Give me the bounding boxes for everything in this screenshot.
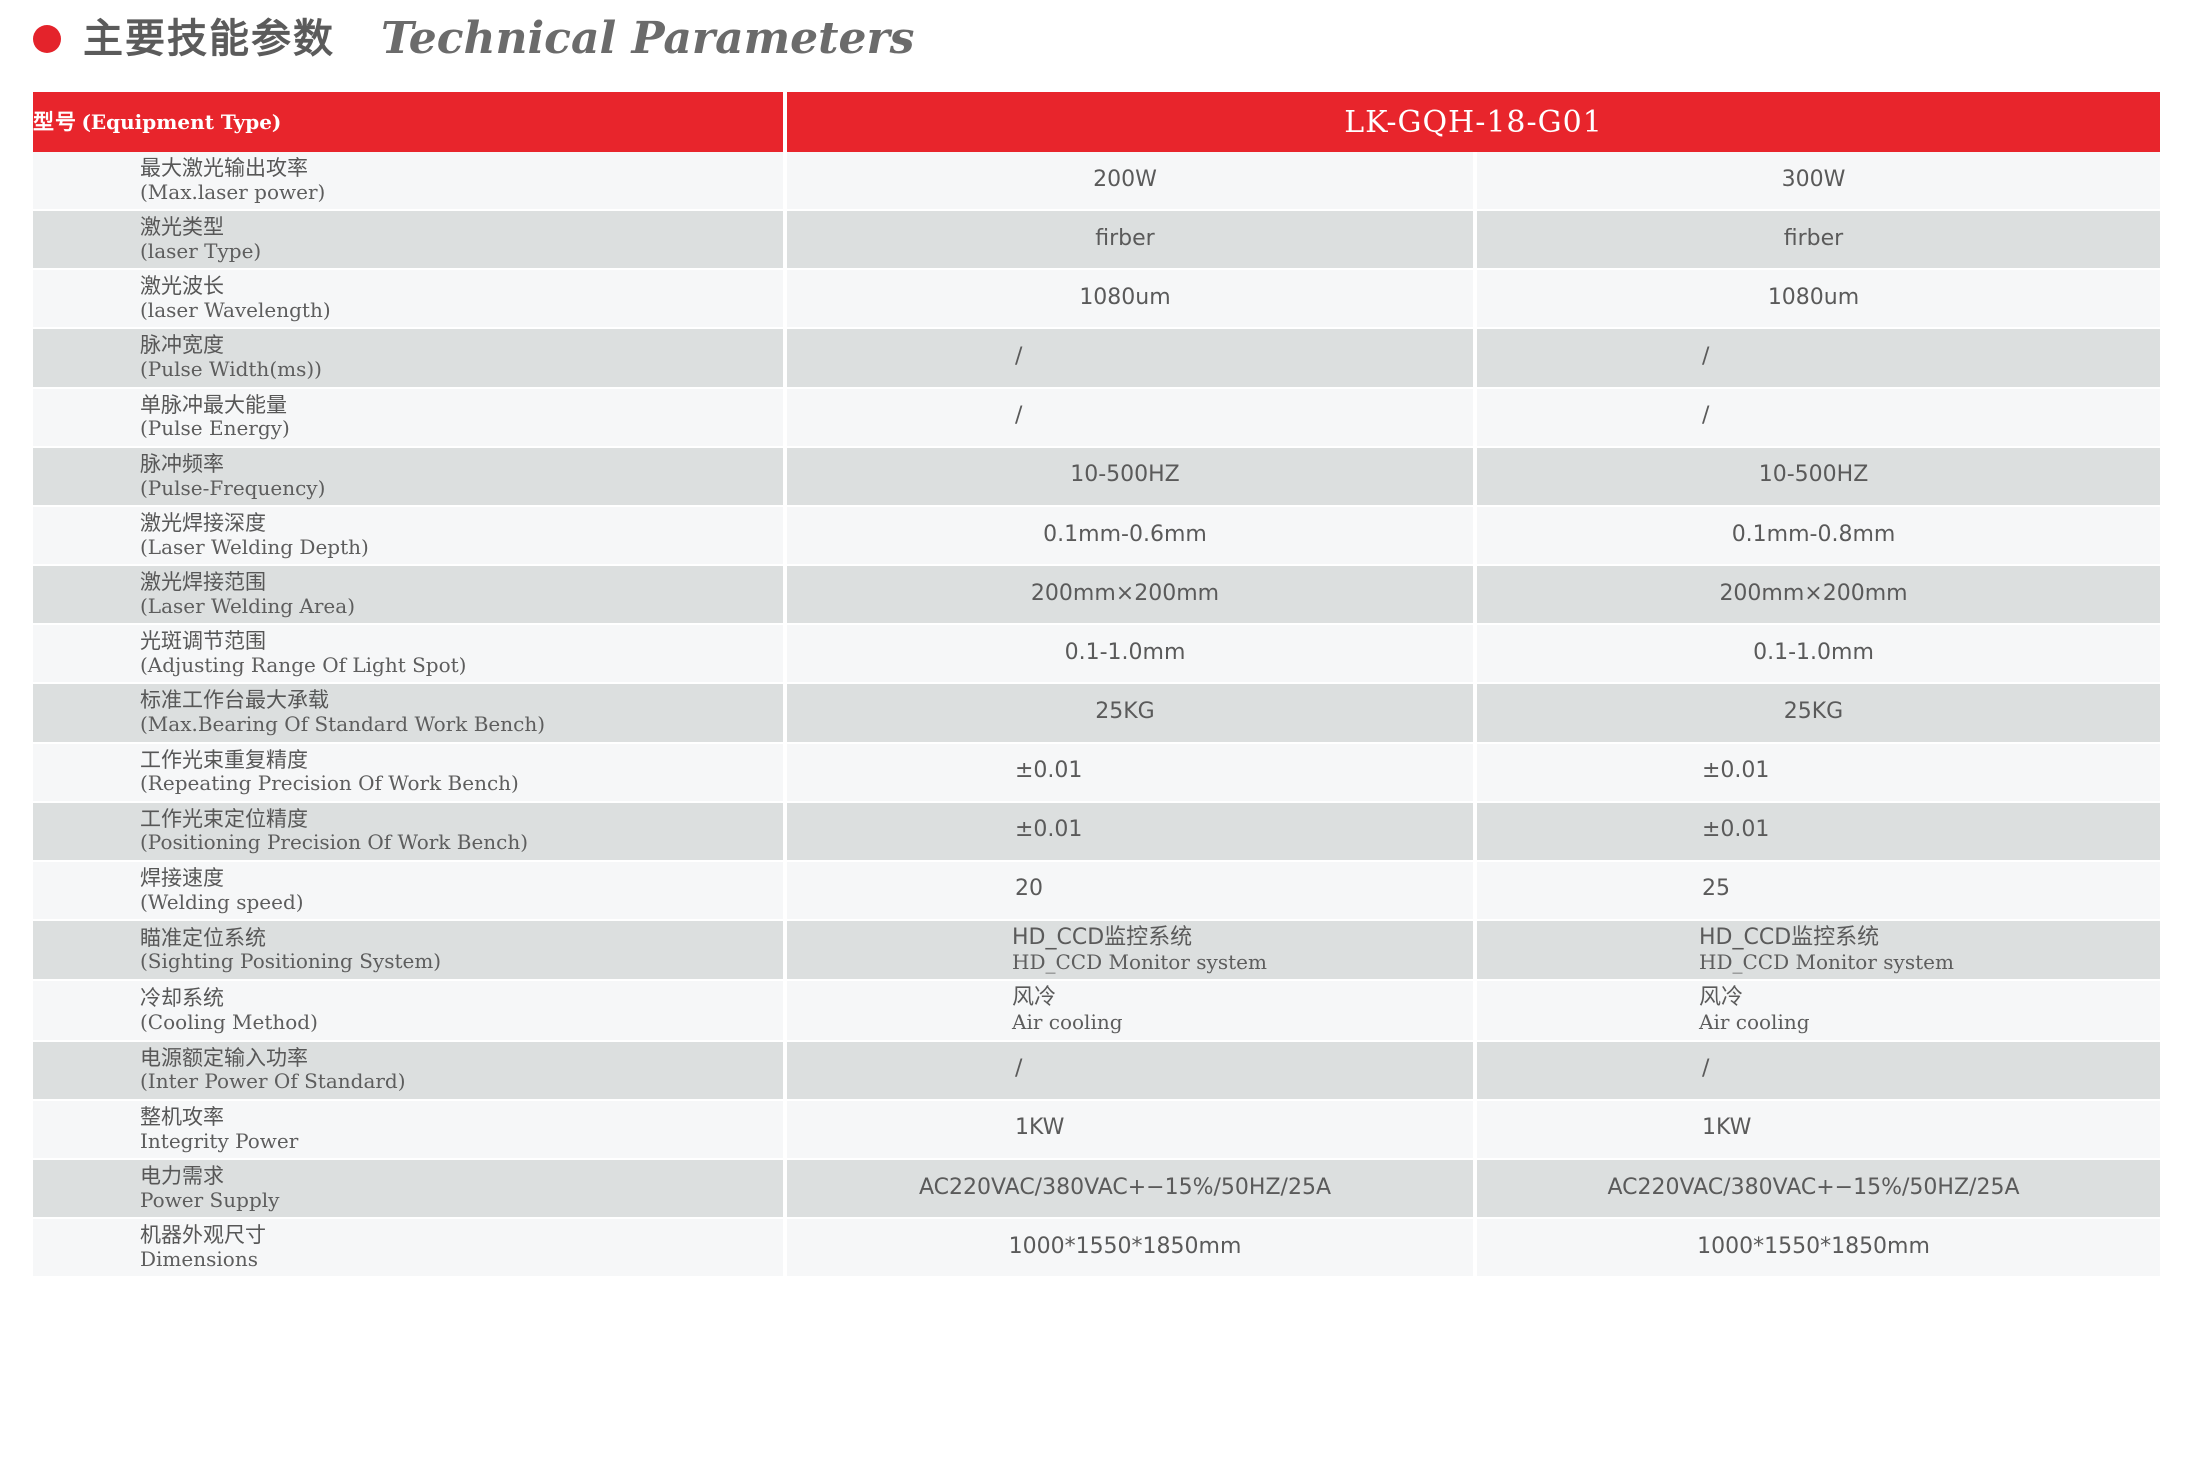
- parameter-label-en: Power Supply: [140, 1189, 773, 1211]
- parameter-value-cell: 1KW: [785, 1100, 1475, 1159]
- parameter-label-cn: 激光波长: [140, 274, 773, 299]
- parameter-value-cell: /: [1475, 388, 2160, 447]
- parameter-label-en: (Pulse-Frequency): [140, 477, 773, 499]
- parameter-label-cell: 单脉冲最大能量(Pulse Energy): [33, 388, 785, 447]
- table-row: 激光类型(laser Type)firberfirber: [33, 210, 2160, 269]
- parameter-value-primary: HD_CCD监控系统: [1012, 925, 1463, 951]
- parameter-value-cell: 0.1-1.0mm: [785, 624, 1475, 683]
- parameter-value-primary: /: [1702, 1056, 2150, 1082]
- parameter-value-primary: 风冷: [1699, 985, 2150, 1011]
- parameter-value-secondary: Air cooling: [1012, 1011, 1463, 1033]
- page-title-english: Technical Parameters: [381, 17, 914, 61]
- parameter-value-primary: 1000*1550*1850mm: [1477, 1234, 2150, 1260]
- parameter-label-cell: 工作光束重复精度(Repeating Precision Of Work Ben…: [33, 743, 785, 802]
- parameter-value-cell: 1080um: [1475, 269, 2160, 328]
- parameter-label-cell: 最大激光输出攻率(Max.laser power): [33, 152, 785, 210]
- parameter-label-cn: 最大激光输出攻率: [140, 156, 773, 181]
- parameter-value-cell: firber: [1475, 210, 2160, 269]
- parameter-label-cell: 冷却系统(Cooling Method): [33, 980, 785, 1040]
- parameter-value-secondary: HD_CCD Monitor system: [1012, 951, 1463, 973]
- parameter-value-primary: 25: [1702, 876, 2150, 902]
- parameter-value-cell: 风冷Air cooling: [785, 980, 1475, 1040]
- parameter-label-en: (Pulse Width(ms)): [140, 358, 773, 380]
- parameter-value-primary: 300W: [1477, 167, 2150, 193]
- parameter-label-en: (laser Wavelength): [140, 299, 773, 321]
- page-title-chinese: 主要技能参数: [83, 19, 335, 59]
- parameter-label-en: (Welding speed): [140, 891, 773, 913]
- parameter-label-cn: 焊接速度: [140, 866, 773, 891]
- parameter-value-cell: 10-500HZ: [785, 447, 1475, 506]
- parameter-label-cell: 电力需求Power Supply: [33, 1159, 785, 1218]
- table-body: 最大激光输出攻率(Max.laser power)200W300W激光类型(la…: [33, 152, 2160, 1277]
- table-row: 最大激光输出攻率(Max.laser power)200W300W: [33, 152, 2160, 210]
- parameter-value-primary: 1080um: [787, 285, 1463, 311]
- parameter-value-primary: /: [1015, 1056, 1463, 1082]
- parameter-value-primary: AC220VAC/380VAC+−15%/50HZ/25A: [1477, 1175, 2150, 1201]
- table-row: 焊接速度(Welding speed)2025: [33, 861, 2160, 920]
- parameter-value-cell: 25KG: [1475, 683, 2160, 742]
- parameters-table: 型号 (Equipment Type) LK-GQH-18-G01 最大激光输出…: [33, 92, 2160, 1278]
- parameter-value-cell: AC220VAC/380VAC+−15%/50HZ/25A: [785, 1159, 1475, 1218]
- parameter-label-cell: 工作光束定位精度(Positioning Precision Of Work B…: [33, 802, 785, 861]
- table-row: 电源额定输入功率(Inter Power Of Standard)//: [33, 1041, 2160, 1100]
- parameter-label-cn: 工作光束定位精度: [140, 807, 773, 832]
- header-equipment-type-en: (Equipment Type): [81, 110, 281, 134]
- parameter-label-en: (Repeating Precision Of Work Bench): [140, 772, 773, 794]
- parameter-label-cn: 单脉冲最大能量: [140, 393, 773, 418]
- parameter-value-primary: 25KG: [1477, 699, 2150, 725]
- parameter-label-cn: 瞄准定位系统: [140, 926, 773, 951]
- parameter-value-cell: 200mm×200mm: [1475, 565, 2160, 624]
- parameter-label-cn: 脉冲频率: [140, 452, 773, 477]
- table-row: 激光焊接范围(Laser Welding Area)200mm×200mm200…: [33, 565, 2160, 624]
- parameter-value-cell: /: [785, 1041, 1475, 1100]
- parameter-label-cn: 电源额定输入功率: [140, 1046, 773, 1071]
- parameter-value-cell: 300W: [1475, 152, 2160, 210]
- parameter-value-cell: HD_CCD监控系统HD_CCD Monitor system: [785, 920, 1475, 980]
- parameter-label-en: (Laser Welding Depth): [140, 536, 773, 558]
- parameter-label-cn: 光斑调节范围: [140, 629, 773, 654]
- table-row: 标准工作台最大承载(Max.Bearing Of Standard Work B…: [33, 683, 2160, 742]
- parameter-label-cn: 电力需求: [140, 1164, 773, 1189]
- parameter-label-cell: 电源额定输入功率(Inter Power Of Standard): [33, 1041, 785, 1100]
- parameter-value-cell: 200mm×200mm: [785, 565, 1475, 624]
- parameter-value-primary: 10-500HZ: [787, 462, 1463, 488]
- parameter-value-cell: 1000*1550*1850mm: [785, 1218, 1475, 1277]
- parameter-label-en: (Max.laser power): [140, 181, 773, 203]
- parameter-label-en: Integrity Power: [140, 1130, 773, 1152]
- parameter-value-cell: /: [785, 388, 1475, 447]
- table-row: 激光波长(laser Wavelength)1080um1080um: [33, 269, 2160, 328]
- parameter-label-cn: 激光类型: [140, 215, 773, 240]
- table-header-row: 型号 (Equipment Type) LK-GQH-18-G01: [33, 92, 2160, 152]
- parameter-label-cell: 激光类型(laser Type): [33, 210, 785, 269]
- parameter-value-primary: ±0.01: [1015, 758, 1463, 784]
- parameter-label-cn: 标准工作台最大承载: [140, 688, 773, 713]
- parameter-label-cn: 激光焊接深度: [140, 511, 773, 536]
- parameter-value-primary: 风冷: [1012, 985, 1463, 1011]
- parameter-label-cn: 激光焊接范围: [140, 570, 773, 595]
- parameter-label-en: (Sighting Positioning System): [140, 950, 773, 972]
- parameter-value-cell: 风冷Air cooling: [1475, 980, 2160, 1040]
- parameter-label-en: (Laser Welding Area): [140, 595, 773, 617]
- table-row: 激光焊接深度(Laser Welding Depth)0.1mm-0.6mm0.…: [33, 506, 2160, 565]
- parameter-value-primary: 25KG: [787, 699, 1463, 725]
- table-row: 光斑调节范围(Adjusting Range Of Light Spot)0.1…: [33, 624, 2160, 683]
- parameter-label-en: (Cooling Method): [140, 1011, 773, 1033]
- parameter-value-secondary: Air cooling: [1699, 1011, 2150, 1033]
- parameter-value-cell: /: [1475, 328, 2160, 387]
- parameter-value-primary: AC220VAC/380VAC+−15%/50HZ/25A: [787, 1175, 1463, 1201]
- bullet-dot-icon: [33, 25, 61, 53]
- parameter-value-cell: 0.1mm-0.6mm: [785, 506, 1475, 565]
- header-model-name: LK-GQH-18-G01: [785, 92, 2160, 152]
- table-row: 机器外观尺寸Dimensions1000*1550*1850mm1000*155…: [33, 1218, 2160, 1277]
- parameter-value-primary: firber: [787, 226, 1463, 252]
- parameter-value-cell: ±0.01: [1475, 743, 2160, 802]
- header-equipment-type: 型号 (Equipment Type): [33, 92, 785, 152]
- parameter-value-primary: /: [1702, 344, 2150, 370]
- parameter-value-cell: 25KG: [785, 683, 1475, 742]
- parameter-value-primary: 200W: [787, 167, 1463, 193]
- header-equipment-type-cn: 型号: [33, 110, 77, 134]
- table-row: 整机攻率Integrity Power1KW1KW: [33, 1100, 2160, 1159]
- parameter-value-primary: ±0.01: [1015, 817, 1463, 843]
- parameter-label-cn: 整机攻率: [140, 1105, 773, 1130]
- parameter-value-cell: 20: [785, 861, 1475, 920]
- parameter-label-en: (Max.Bearing Of Standard Work Bench): [140, 713, 773, 735]
- parameter-value-cell: 10-500HZ: [1475, 447, 2160, 506]
- table-row: 冷却系统(Cooling Method)风冷Air cooling风冷Air c…: [33, 980, 2160, 1040]
- parameter-label-cell: 激光波长(laser Wavelength): [33, 269, 785, 328]
- parameter-label-cn: 机器外观尺寸: [140, 1223, 773, 1248]
- parameter-value-cell: 1KW: [1475, 1100, 2160, 1159]
- parameter-value-primary: HD_CCD监控系统: [1699, 925, 2150, 951]
- page-title: 主要技能参数 Technical Parameters: [33, 8, 914, 70]
- parameter-label-en: Dimensions: [140, 1248, 773, 1270]
- parameter-value-primary: 200mm×200mm: [787, 581, 1463, 607]
- parameter-value-cell: /: [1475, 1041, 2160, 1100]
- parameter-value-primary: 200mm×200mm: [1477, 581, 2150, 607]
- parameter-value-cell: ±0.01: [785, 743, 1475, 802]
- table-row: 电力需求Power SupplyAC220VAC/380VAC+−15%/50H…: [33, 1159, 2160, 1218]
- parameter-value-cell: 0.1mm-0.8mm: [1475, 506, 2160, 565]
- parameter-label-cell: 焊接速度(Welding speed): [33, 861, 785, 920]
- parameter-value-primary: 0.1mm-0.8mm: [1477, 522, 2150, 548]
- parameter-label-cell: 脉冲宽度(Pulse Width(ms)): [33, 328, 785, 387]
- parameter-value-cell: firber: [785, 210, 1475, 269]
- parameter-value-cell: 1000*1550*1850mm: [1475, 1218, 2160, 1277]
- table-row: 瞄准定位系统(Sighting Positioning System)HD_CC…: [33, 920, 2160, 980]
- parameter-value-primary: 1080um: [1477, 285, 2150, 311]
- parameter-value-primary: ±0.01: [1702, 817, 2150, 843]
- parameter-value-primary: 10-500HZ: [1477, 462, 2150, 488]
- parameter-label-cell: 瞄准定位系统(Sighting Positioning System): [33, 920, 785, 980]
- parameter-value-cell: 1080um: [785, 269, 1475, 328]
- technical-parameters-page: 主要技能参数 Technical Parameters 型号 (Equipmen…: [0, 0, 2189, 1458]
- parameter-label-en: (Adjusting Range Of Light Spot): [140, 654, 773, 676]
- parameter-value-cell: HD_CCD监控系统HD_CCD Monitor system: [1475, 920, 2160, 980]
- parameter-value-primary: 20: [1015, 876, 1463, 902]
- parameter-value-cell: AC220VAC/380VAC+−15%/50HZ/25A: [1475, 1159, 2160, 1218]
- parameter-label-en: (Positioning Precision Of Work Bench): [140, 831, 773, 853]
- table-row: 工作光束定位精度(Positioning Precision Of Work B…: [33, 802, 2160, 861]
- parameter-label-en: (Pulse Energy): [140, 417, 773, 439]
- parameter-label-cell: 激光焊接深度(Laser Welding Depth): [33, 506, 785, 565]
- parameter-label-en: (Inter Power Of Standard): [140, 1070, 773, 1092]
- parameter-label-cell: 脉冲频率(Pulse-Frequency): [33, 447, 785, 506]
- parameter-label-cell: 机器外观尺寸Dimensions: [33, 1218, 785, 1277]
- parameter-label-cell: 激光焊接范围(Laser Welding Area): [33, 565, 785, 624]
- parameter-value-secondary: HD_CCD Monitor system: [1699, 951, 2150, 973]
- parameter-value-primary: 0.1mm-0.6mm: [787, 522, 1463, 548]
- parameter-value-cell: 200W: [785, 152, 1475, 210]
- parameter-label-cell: 标准工作台最大承载(Max.Bearing Of Standard Work B…: [33, 683, 785, 742]
- table-row: 单脉冲最大能量(Pulse Energy)//: [33, 388, 2160, 447]
- parameter-value-primary: firber: [1477, 226, 2150, 252]
- parameter-value-cell: 25: [1475, 861, 2160, 920]
- parameter-label-cn: 脉冲宽度: [140, 333, 773, 358]
- parameter-value-primary: /: [1702, 403, 2150, 429]
- parameter-value-primary: /: [1015, 344, 1463, 370]
- parameter-value-primary: 0.1-1.0mm: [787, 640, 1463, 666]
- table-row: 脉冲宽度(Pulse Width(ms))//: [33, 328, 2160, 387]
- parameter-value-primary: 0.1-1.0mm: [1477, 640, 2150, 666]
- parameter-label-cn: 冷却系统: [140, 986, 773, 1011]
- parameter-value-primary: /: [1015, 403, 1463, 429]
- parameter-value-cell: ±0.01: [785, 802, 1475, 861]
- parameter-label-en: (laser Type): [140, 240, 773, 262]
- parameter-value-primary: 1000*1550*1850mm: [787, 1234, 1463, 1260]
- parameter-value-primary: 1KW: [1015, 1115, 1463, 1141]
- parameter-value-cell: ±0.01: [1475, 802, 2160, 861]
- table-row: 脉冲频率(Pulse-Frequency)10-500HZ10-500HZ: [33, 447, 2160, 506]
- parameter-value-cell: 0.1-1.0mm: [1475, 624, 2160, 683]
- parameter-label-cell: 光斑调节范围(Adjusting Range Of Light Spot): [33, 624, 785, 683]
- parameter-value-primary: ±0.01: [1702, 758, 2150, 784]
- parameter-label-cn: 工作光束重复精度: [140, 748, 773, 773]
- parameter-value-cell: /: [785, 328, 1475, 387]
- parameter-label-cell: 整机攻率Integrity Power: [33, 1100, 785, 1159]
- parameter-value-primary: 1KW: [1702, 1115, 2150, 1141]
- table-row: 工作光束重复精度(Repeating Precision Of Work Ben…: [33, 743, 2160, 802]
